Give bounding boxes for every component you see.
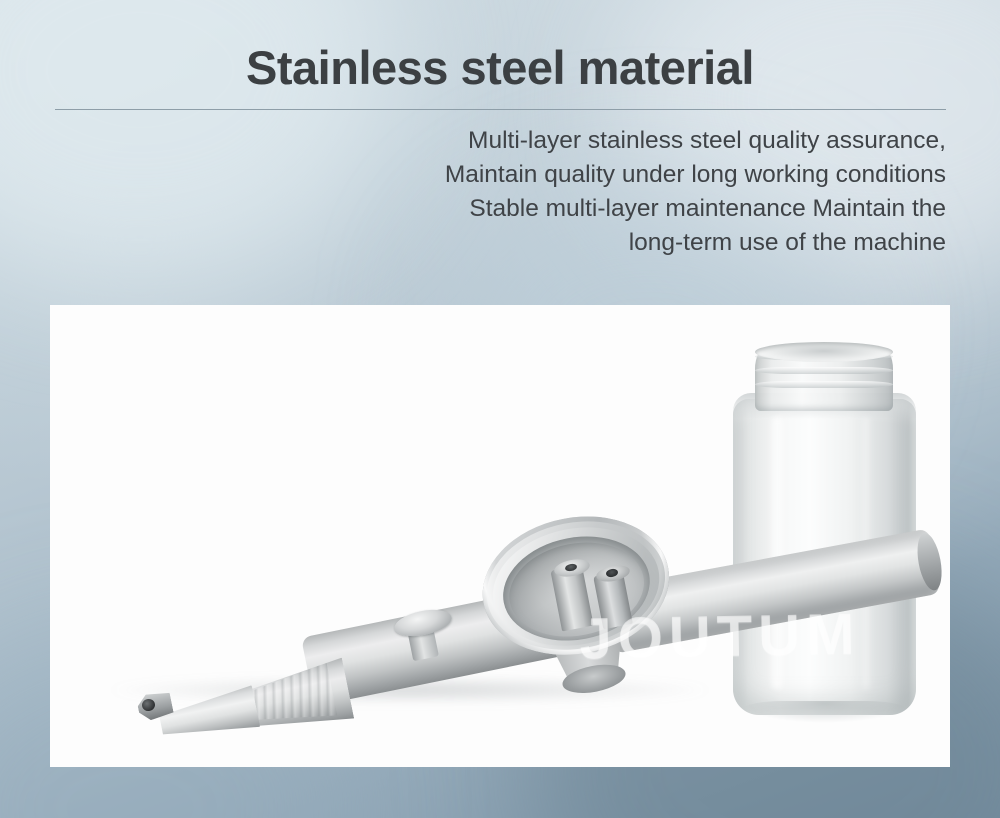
airbrush-handpiece [50,305,950,767]
product-photo: JOUTUM [50,305,950,767]
brand-watermark: JOUTUM [504,599,935,673]
product-photo-frame: JOUTUM [50,305,950,767]
page-subtitle: Multi-layer stainless steel quality assu… [0,110,1000,260]
page-root: Stainless steel material Multi-layer sta… [0,0,1000,818]
handpiece-end-cap [913,531,945,592]
banner-header: Stainless steel material Multi-layer sta… [0,0,1000,260]
page-title: Stainless steel material [0,0,1000,95]
